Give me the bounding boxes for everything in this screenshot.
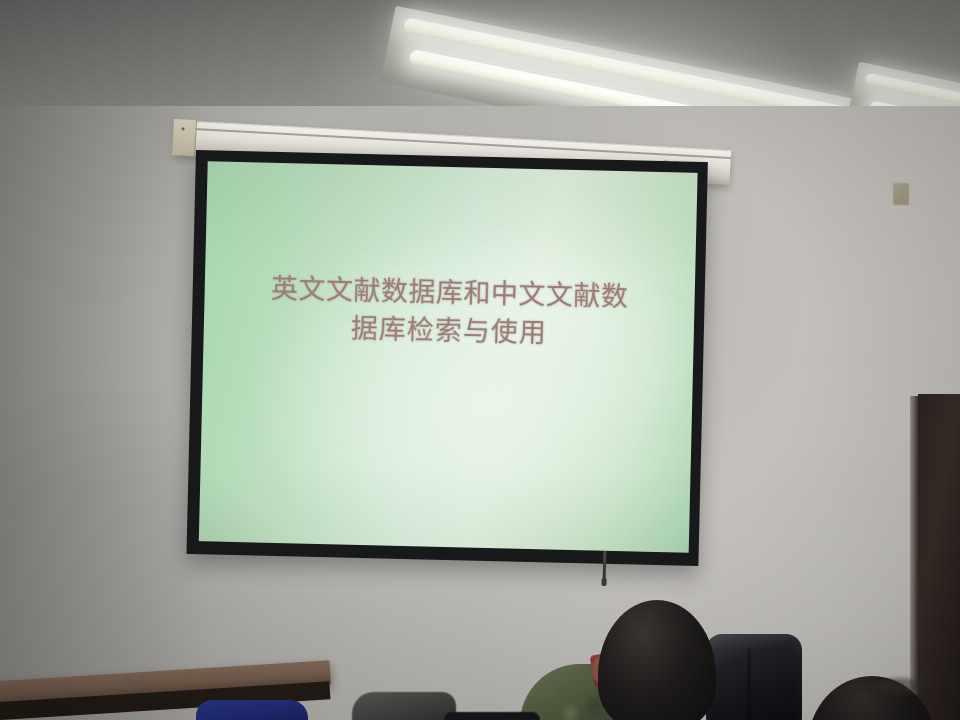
chair-seam <box>748 648 750 720</box>
projected-slide-surface: 英文文献数据库和中文文献数 据库检索与使用 <box>199 161 698 552</box>
blue-bag <box>196 700 308 720</box>
wall-outlet-plate <box>893 183 909 205</box>
person-right-hair-strand <box>878 678 924 694</box>
right-dark-panel <box>918 394 960 720</box>
screen-black-frame: 英文文献数据库和中文文献数 据库检索与使用 <box>186 150 707 566</box>
screw-icon <box>181 127 184 130</box>
foreground-dark-sliver <box>444 712 540 720</box>
leather-chair-back <box>706 634 802 720</box>
gray-object <box>352 692 456 720</box>
slide-title: 英文文献数据库和中文文献数 据库检索与使用 <box>203 269 695 357</box>
classroom-photo: Redleaf 英文文献数据库和中文文献数 据库检索与使用 <box>0 0 960 720</box>
pull-cord-tip <box>601 578 606 586</box>
casing-mount-bracket <box>172 119 197 156</box>
